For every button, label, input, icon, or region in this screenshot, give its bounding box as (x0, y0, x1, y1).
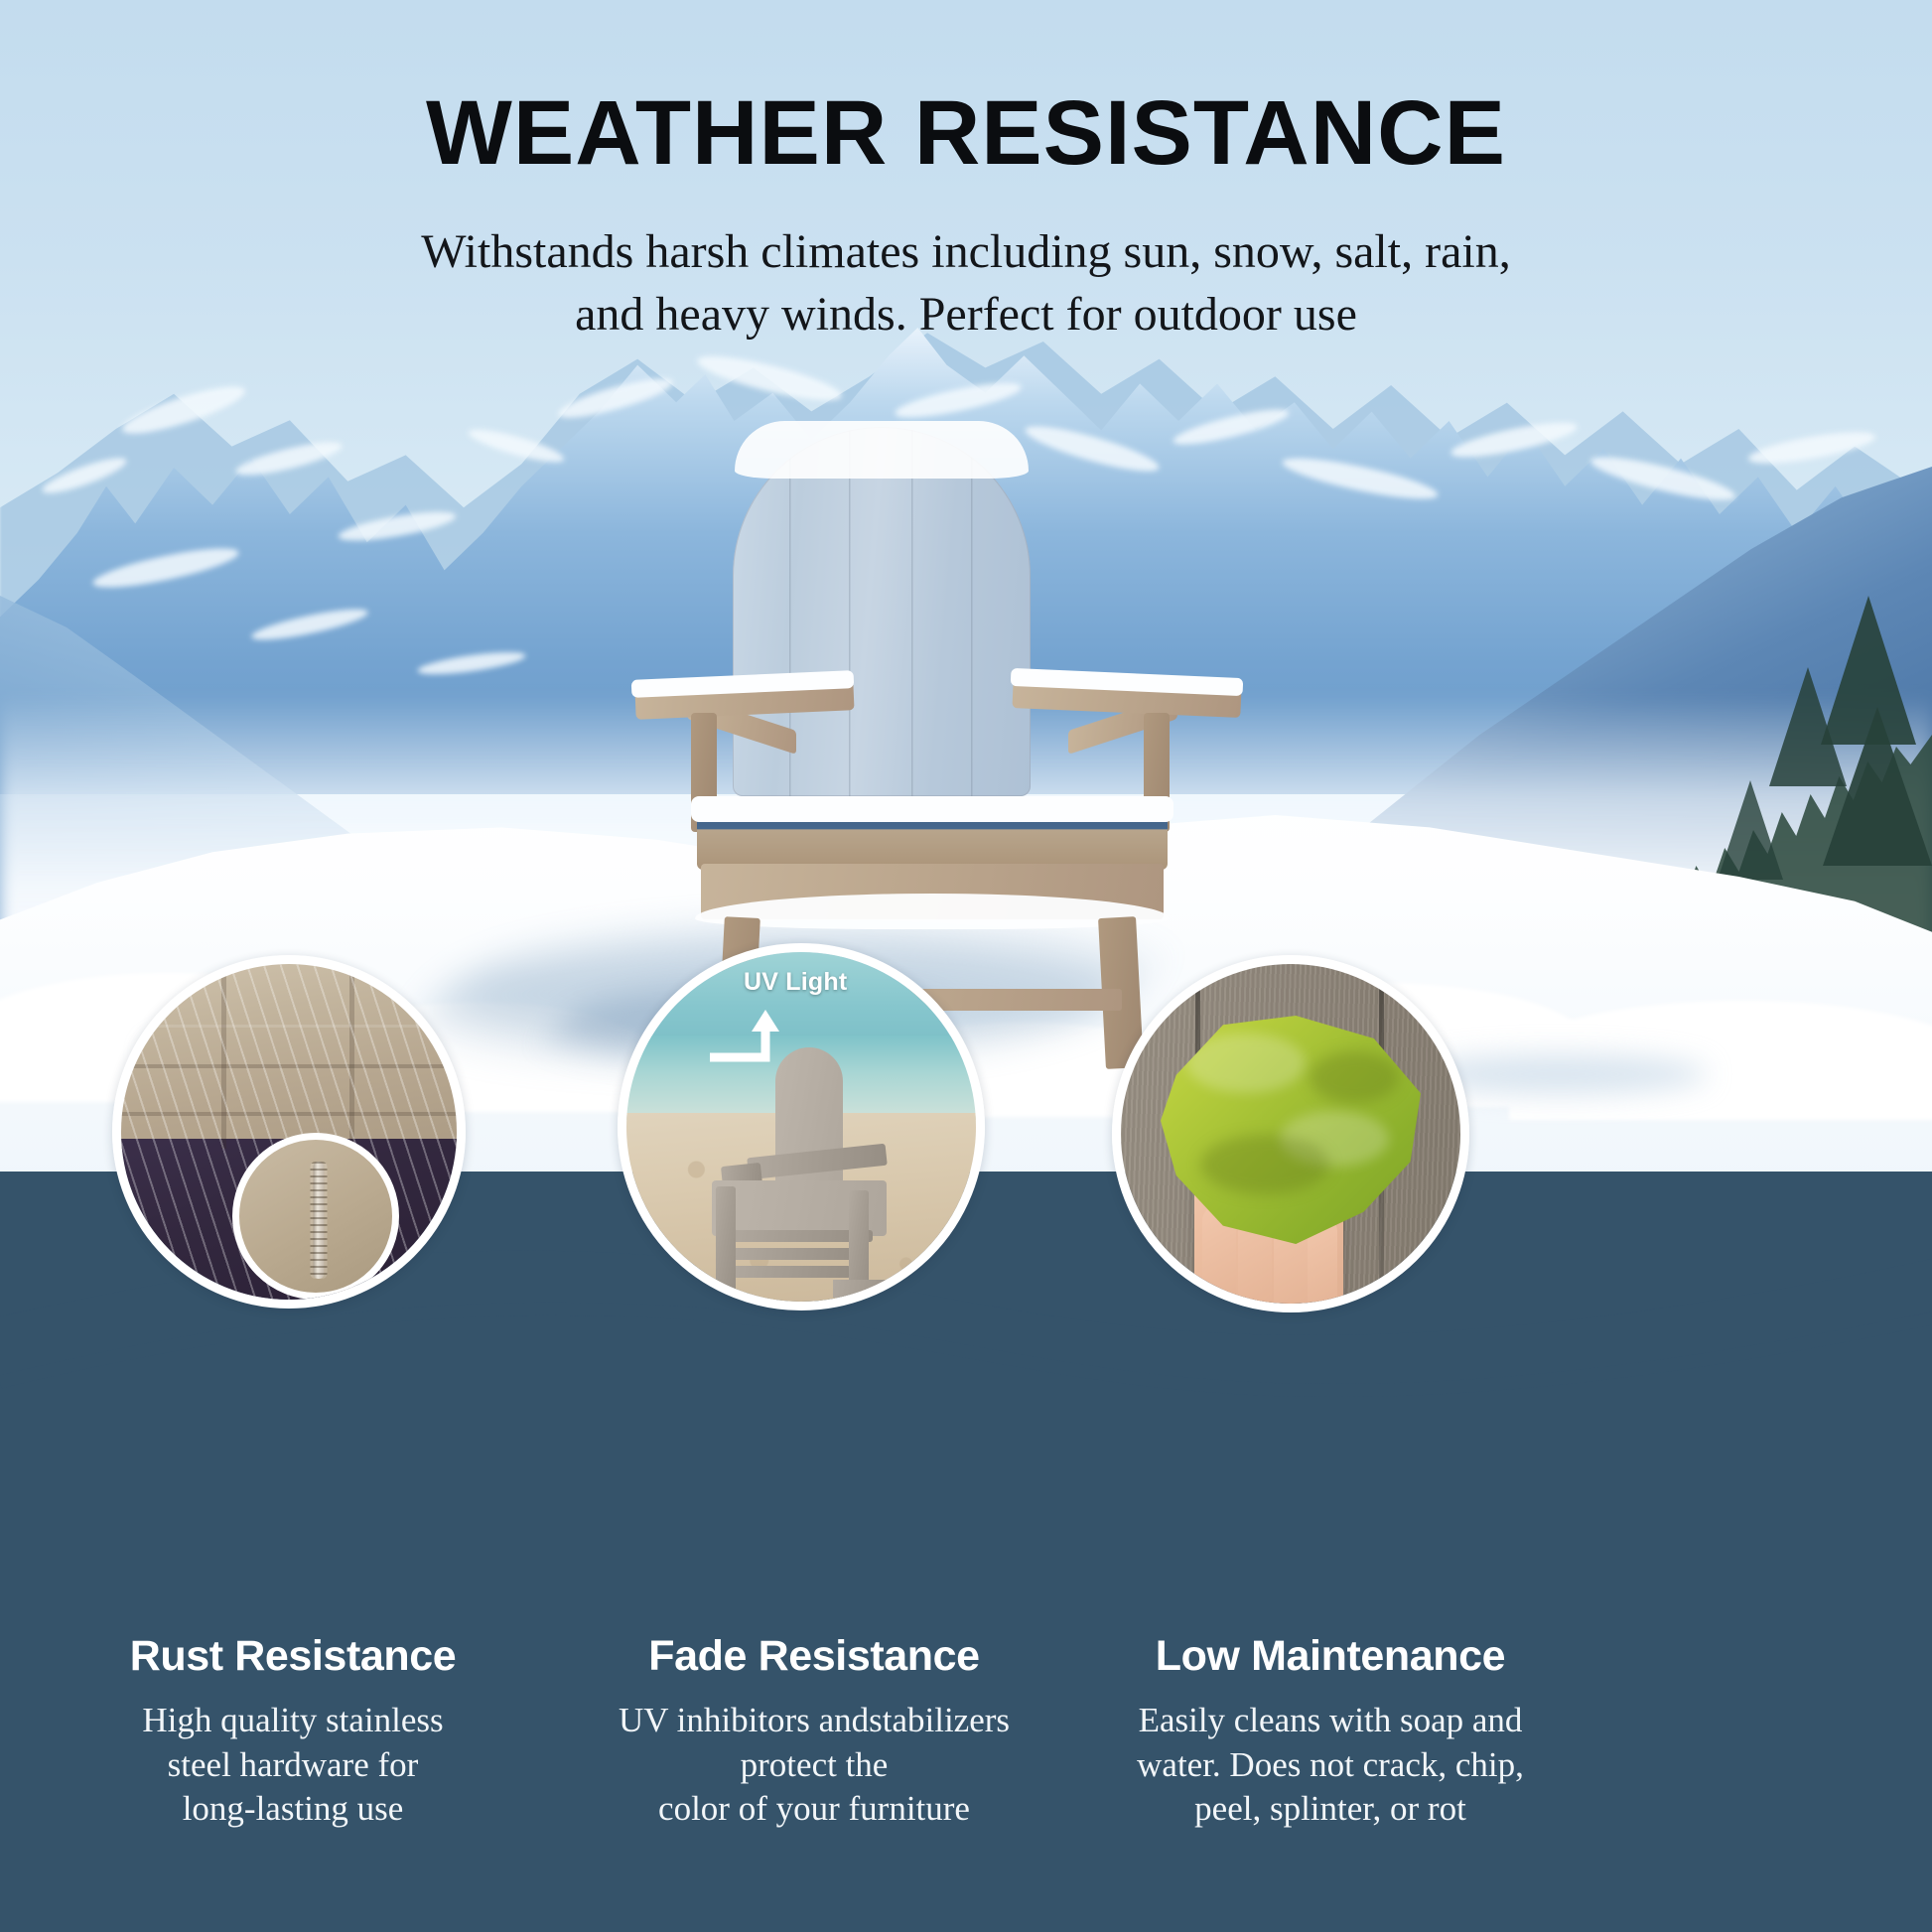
subtitle-line-2: and heavy winds. Perfect for outdoor use (0, 283, 1932, 345)
feature-body-line-3: color of your furniture (581, 1787, 1047, 1831)
feature-body-line-2: water. Does not crack, chip, (1082, 1743, 1579, 1787)
uv-light-arrow-icon (710, 1004, 805, 1069)
feature-body: Easily cleans with soap and water. Does … (1082, 1699, 1579, 1830)
stainless-screw-closeup-inset (232, 1133, 399, 1300)
feature-text-fade-resistance: Fade Resistance UV inhibitors andstabili… (581, 1633, 1047, 1831)
feature-body-line-3: long-lasting use (60, 1787, 526, 1831)
uv-light-label: UV Light (744, 968, 847, 997)
infographic-canvas: UV Light (0, 0, 1932, 1932)
feature-image-low-maintenance (1112, 955, 1469, 1312)
feature-body-line-1: Easily cleans with soap and (1082, 1699, 1579, 1742)
feature-body-line-1: UV inhibitors andstabilizers (581, 1699, 1047, 1742)
page-title: WEATHER RESISTANCE (0, 87, 1932, 179)
feature-body: High quality stainless steel hardware fo… (60, 1699, 526, 1830)
hero-adirondack-chair (635, 427, 1291, 983)
feature-body-line-3: peel, splinter, or rot (1082, 1787, 1579, 1831)
feature-title: Fade Resistance (581, 1633, 1047, 1679)
feature-body-line-2: steel hardware for (60, 1743, 526, 1787)
stainless-screw (314, 1162, 325, 1279)
page-subtitle: Withstands harsh climates including sun,… (0, 220, 1932, 346)
feature-title: Rust Resistance (60, 1633, 526, 1679)
feature-body-line-2: protect the (581, 1743, 1047, 1787)
feature-text-rust-resistance: Rust Resistance High quality stainless s… (60, 1633, 526, 1831)
chair-backrest-snow (735, 421, 1029, 479)
feature-body-line-1: High quality stainless (60, 1699, 526, 1742)
feature-image-fade-resistance: UV Light (618, 943, 985, 1311)
feature-text-low-maintenance: Low Maintenance Easily cleans with soap … (1082, 1633, 1579, 1831)
feature-title: Low Maintenance (1082, 1633, 1579, 1679)
beach-scene: UV Light (626, 952, 976, 1302)
subtitle-line-1: Withstands harsh climates including sun,… (0, 220, 1932, 283)
feature-image-rust-resistance (112, 955, 466, 1309)
chair-seat-snow (691, 796, 1173, 822)
deck-wiping-scene (1121, 964, 1460, 1304)
feature-body: UV inhibitors andstabilizers protect the… (581, 1699, 1047, 1830)
